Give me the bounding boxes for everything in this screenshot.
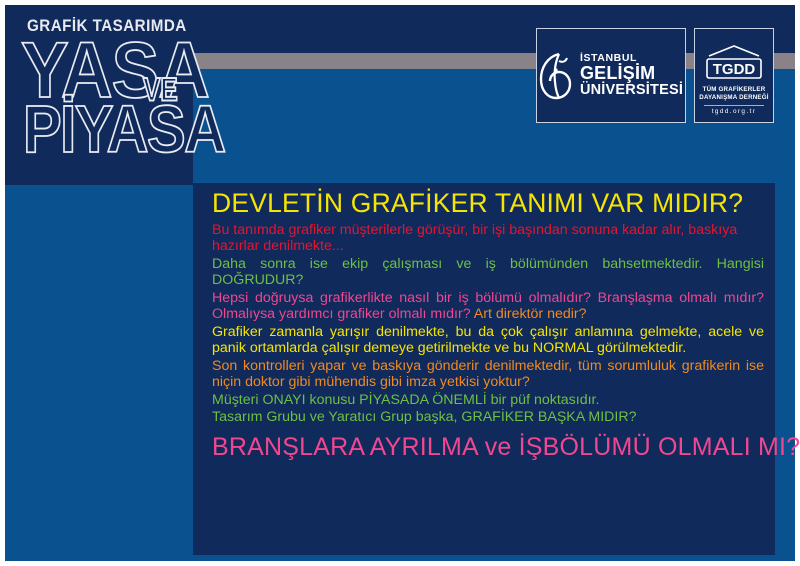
masthead-title-piyasa: PİYASA — [23, 97, 225, 164]
paragraph-4: Grafiker zamanla yarışır denilmekte, bu … — [212, 324, 764, 357]
poster-canvas: GRAFİK TASARIMDA YASA VE PİYASA İSTANBUL… — [0, 0, 800, 566]
tgdd-subtitle-line-1: TÜM GRAFİKERLER — [698, 86, 770, 94]
paragraph-3: Hepsi doğruysa grafikerlikte nasıl bir i… — [212, 290, 764, 323]
paragraph-5: Son kontrolleri yapar ve baskıya gönderi… — [212, 358, 764, 391]
tgdd-url: tgdd.org.tr — [704, 105, 764, 115]
tgdd-logo: TGDD TÜM GRAFİKERLER DAYANIŞMA DERNEĞİ t… — [694, 28, 774, 123]
page-footline: BRANŞLARA AYRILMA ve İŞBÖLÜMÜ OLMALI MI? — [212, 434, 764, 460]
content-text-block: DEVLETİN GRAFİKER TANIMI VAR MIDIR? Bu t… — [212, 190, 764, 461]
logo-strip: İSTANBUL GELİŞİM ÜNİVERSİTESİ TGDD TÜM G… — [536, 28, 774, 123]
page-headline: DEVLETİN GRAFİKER TANIMI VAR MIDIR? — [212, 190, 764, 218]
tgdd-subtitle: TÜM GRAFİKERLER DAYANIŞMA DERNEĞİ — [698, 86, 770, 102]
university-emblem-icon — [539, 51, 573, 101]
paragraph-6: Müşteri ONAYI konusu PİYASADA ÖNEMLİ bir… — [212, 392, 764, 408]
paragraph-7: Tasarım Grubu ve Yaratıcı Grup başka, GR… — [212, 409, 764, 425]
university-wordmark: İSTANBUL GELİŞİM ÜNİVERSİTESİ — [580, 53, 683, 99]
paragraph-2: Daha sonra ise ekip çalışması ve iş bölü… — [212, 256, 764, 289]
paragraph-3-highlight: Art direktör nedir? — [474, 306, 587, 322]
svg-text:TGDD: TGDD — [713, 61, 756, 78]
university-line-2: GELİŞİM — [580, 64, 683, 83]
tgdd-subtitle-line-2: DAYANIŞMA DERNEĞİ — [698, 94, 770, 102]
paragraph-1: Bu tanımda grafiker müşterilerle görüşür… — [212, 222, 764, 255]
masthead: GRAFİK TASARIMDA YASA VE PİYASA — [5, 5, 193, 185]
istanbul-gelisim-universitesi-logo: İSTANBUL GELİŞİM ÜNİVERSİTESİ — [536, 28, 686, 123]
university-line-3: ÜNİVERSİTESİ — [580, 83, 683, 98]
tgdd-wordmark-icon: TGDD — [703, 44, 765, 84]
